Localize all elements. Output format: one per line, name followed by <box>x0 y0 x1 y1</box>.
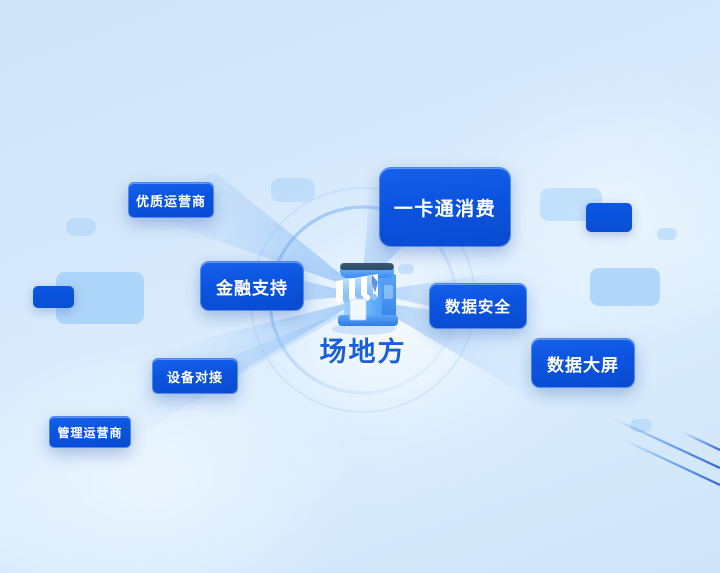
card-shuju-anquan[interactable]: 数据安全 <box>429 283 527 329</box>
card-shuju-daping[interactable]: 数据大屏 <box>531 338 635 388</box>
card-guanli-yunyingshang[interactable]: 管理运营商 <box>49 416 131 448</box>
card-youzhi-yunyingshang[interactable]: 优质运营商 <box>128 182 214 218</box>
card-shebei-duijie[interactable]: 设备对接 <box>152 358 238 394</box>
card-yikatong-xiaofei[interactable]: 一卡通消费 <box>379 167 511 247</box>
card-jinrong-zhichi[interactable]: 金融支持 <box>200 261 304 311</box>
infographic-canvas: 场地方 一卡通消费 金融支持 数据大屏 数据安全 设备对接 优质运营商 管理运营… <box>0 0 720 573</box>
center-label: 场地方 <box>303 330 423 369</box>
storefront-icon <box>312 241 412 341</box>
